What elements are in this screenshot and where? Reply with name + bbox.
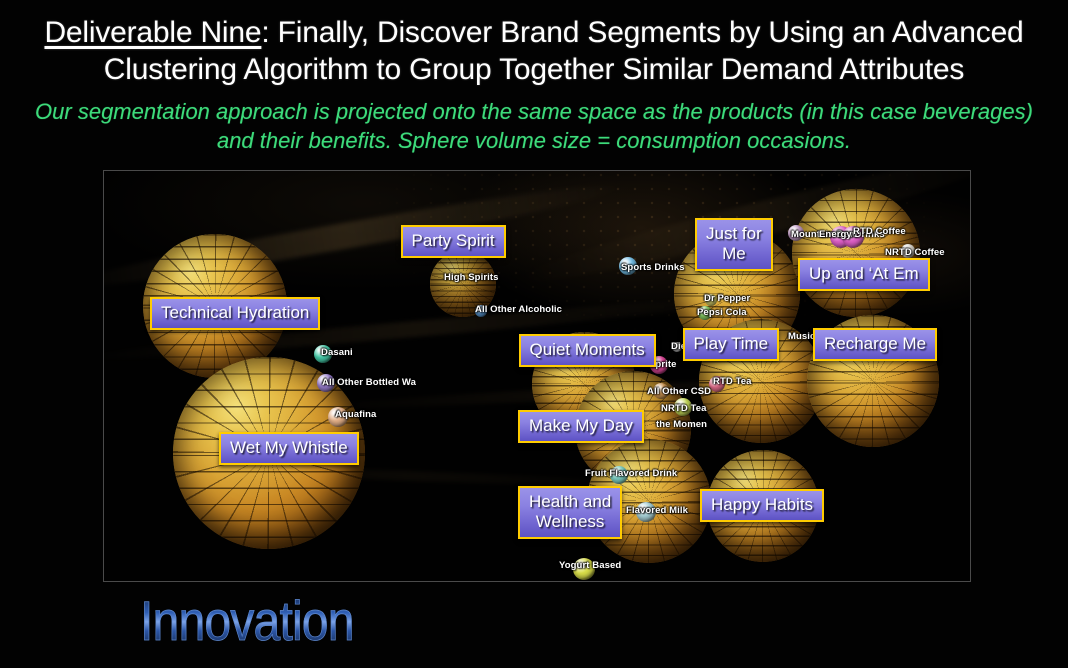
product-label-aquafina: Aquafina [335, 409, 376, 420]
product-label-rtd-coffee: RTD Coffee [853, 226, 906, 237]
product-label-yogurt-based: Yogurt Based [559, 560, 621, 571]
segment-callout-just-for-me[interactable]: Just for Me [695, 218, 773, 271]
product-label-all-other-csd: All Other CSD [647, 386, 711, 397]
product-label-high-spirits: High Spirits [444, 272, 499, 283]
segment-callout-happy-habits[interactable]: Happy Habits [700, 489, 824, 522]
slide-header: Deliverable Nine: Finally, Discover Bran… [0, 0, 1068, 155]
innovation-wordmark: Innovation [140, 588, 354, 653]
product-label-flavored-milk: Flavored Milk [626, 505, 688, 516]
product-label-nrtd-tea: NRTD Tea [661, 403, 707, 414]
slide-footer: Innovation * = When executed for a leadi… [0, 586, 1068, 668]
product-label-nrtd-coffee: NRTD Coffee [885, 247, 945, 258]
page-subtitle: Our segmentation approach is projected o… [0, 97, 1068, 155]
segmentation-chart: High SpiritsAll Other AlcoholicSports Dr… [103, 170, 971, 582]
segment-callout-party-spirit[interactable]: Party Spirit [401, 225, 506, 258]
product-label-dasani: Dasani [321, 347, 353, 358]
product-label-rtd-tea: RTD Tea [713, 376, 752, 387]
product-label-fruit-flavored-drink: Fruit Flavored Drink [585, 468, 677, 479]
segment-callout-quiet-moments[interactable]: Quiet Moments [519, 334, 656, 367]
segment-callout-up-and-at-em[interactable]: Up and ‘At Em [798, 258, 930, 291]
slide-root: Deliverable Nine: Finally, Discover Bran… [0, 0, 1068, 668]
product-label-all-other-alcoholic: All Other Alcoholic [475, 304, 562, 315]
page-title: Deliverable Nine: Finally, Discover Bran… [0, 14, 1068, 88]
product-label-pepsi-cola: Pepsi Cola [697, 307, 747, 318]
product-label-dr-pepper: Dr Pepper [704, 293, 750, 304]
title-underlined-part: Deliverable Nine [44, 16, 261, 49]
product-label-music: Music [788, 331, 815, 342]
product-label-the-momen: the Momen [656, 419, 707, 430]
segment-callout-play-time[interactable]: Play Time [683, 328, 780, 361]
segment-callout-wet-my-whistle[interactable]: Wet My Whistle [219, 432, 359, 465]
segment-callout-technical-hydration[interactable]: Technical Hydration [150, 297, 320, 330]
product-label-sports-drinks: Sports Drinks [621, 262, 685, 273]
segment-callout-health-and-wellness[interactable]: Health and Wellness [518, 486, 622, 539]
segment-callout-recharge-me[interactable]: Recharge Me [813, 328, 937, 361]
segment-callout-make-my-day[interactable]: Make My Day [518, 410, 644, 443]
product-label-all-other-bottled-wa: All Other Bottled Wa [322, 377, 416, 388]
